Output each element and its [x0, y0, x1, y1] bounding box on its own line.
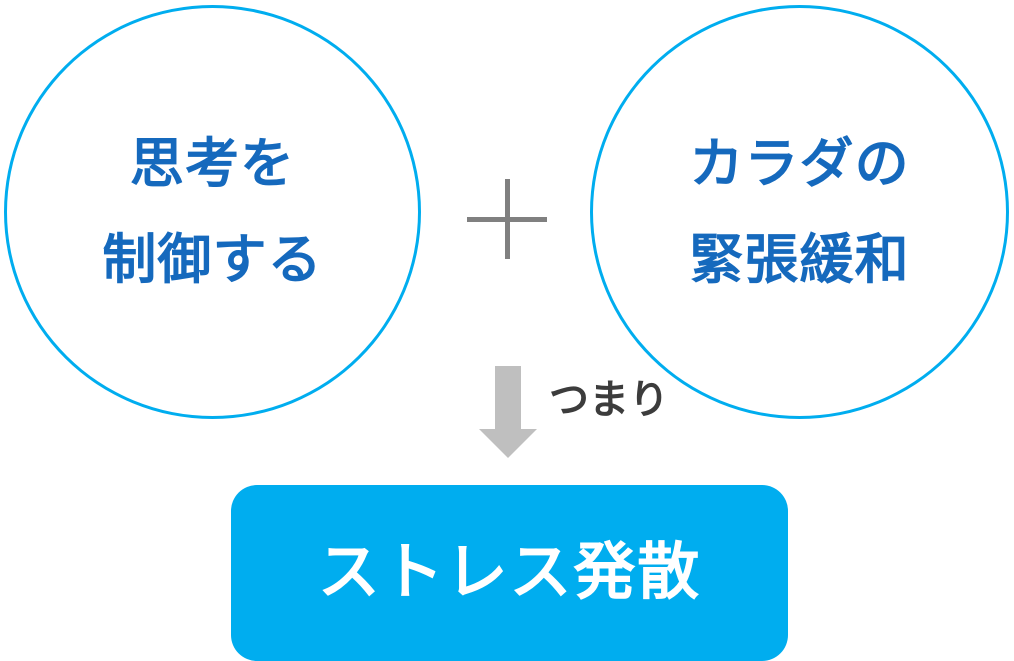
arrow-head: [479, 429, 537, 458]
arrow-shaft: [495, 366, 521, 432]
circle-left-line-1: 思考を: [130, 137, 295, 191]
connector-label: つまり: [549, 380, 669, 420]
circle-right-line-1: カラダの: [689, 137, 909, 191]
diagram-canvas: 思考を 制御する カラダの 緊張緩和 つまり ストレス発散: [0, 0, 1014, 661]
down-arrow-icon: [479, 366, 537, 458]
circle-left-line-2: 制御する: [102, 233, 322, 287]
circle-right-line-2: 緊張緩和: [689, 233, 909, 287]
result-box: ストレス発散: [231, 485, 788, 661]
circle-node-body-relaxation: カラダの 緊張緩和: [590, 5, 1009, 419]
result-label: ストレス発散: [318, 542, 701, 604]
circle-node-thought-control: 思考を 制御する: [4, 5, 421, 419]
plus-icon: [467, 179, 547, 259]
